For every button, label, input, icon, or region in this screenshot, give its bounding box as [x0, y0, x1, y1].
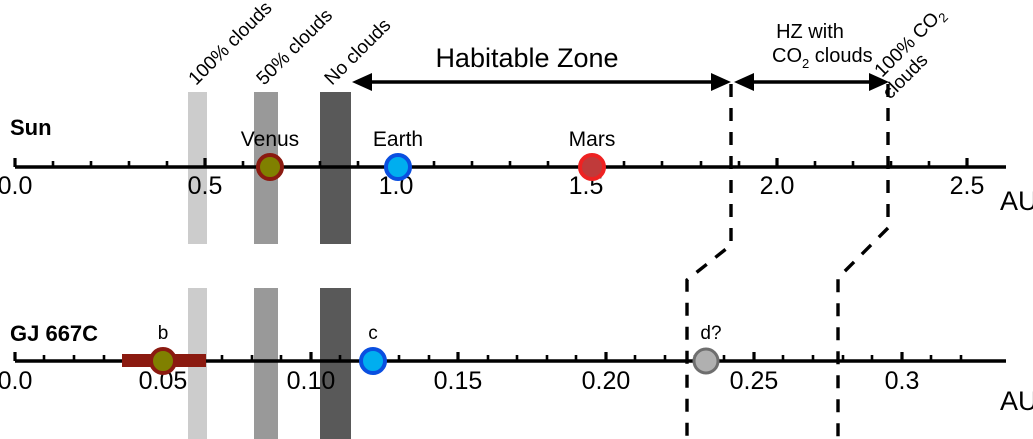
gj667c-cloud-bands	[188, 288, 351, 439]
planet-marker-b	[151, 349, 175, 373]
band-50pct-clouds-gj	[254, 288, 278, 439]
planet-marker-mars	[580, 155, 604, 179]
star-name-gj667c: GJ 667C	[10, 321, 98, 346]
sun-tick-label-5: 2.5	[950, 172, 985, 200]
hz-co2-clouds-annotation: HZ with CO2 clouds	[734, 21, 889, 91]
planet-label-earth: Earth	[373, 128, 423, 151]
planet-label-mars: Mars	[569, 128, 616, 151]
gj-tick-label-6: 0.3	[885, 367, 920, 395]
hz-co2-label-subscript: 2	[802, 56, 809, 71]
habitable-zone-diagram: 0.0 0.5 1.0 1.5 2.0 2.5 AU Sun 100% clou…	[0, 0, 1033, 439]
hz-co2-label-clouds: clouds	[809, 45, 872, 67]
figure-canvas: 0.0 0.5 1.0 1.5 2.0 2.5 AU Sun 100% clou…	[0, 0, 1033, 439]
planet-marker-c	[361, 349, 385, 373]
dashed-connector-outer	[838, 84, 888, 439]
hz-co2-arrow-head-left	[734, 73, 754, 91]
dashed-connectors	[687, 84, 888, 439]
sun-tick-label-4: 2.0	[760, 172, 795, 200]
planet-marker-venus	[258, 155, 282, 179]
dashed-connector-inner	[687, 84, 731, 439]
sun-band-labels: 100% clouds 50% clouds No clouds	[185, 0, 396, 90]
sun-axis-unit-label: AU	[1000, 186, 1033, 216]
gj667c-axis-unit-label: AU	[1000, 386, 1033, 416]
planet-marker-d	[694, 349, 718, 373]
planet-label-d: d?	[700, 323, 721, 344]
habitable-zone-label: Habitable Zone	[435, 43, 618, 73]
gj-tick-label-2: 0.10	[287, 367, 336, 395]
planet-label-b: b	[158, 323, 169, 344]
habitable-zone-arrow-head-right	[711, 73, 731, 91]
hz-co2-label-line1: HZ with	[776, 21, 844, 43]
planet-label-c: c	[368, 323, 378, 344]
sun-planet-markers: Venus Earth Mars	[241, 128, 616, 179]
gj-tick-label-4: 0.20	[582, 367, 631, 395]
band-no-clouds-gj	[320, 288, 351, 439]
co2-clouds-rotated-label: 100% CO2 clouds	[871, 3, 951, 103]
sun-tick-label-1: 0.5	[188, 172, 223, 200]
star-name-sun: Sun	[10, 115, 52, 140]
planet-label-venus: Venus	[241, 128, 299, 151]
gj667c-planet-markers: b c d?	[122, 323, 722, 373]
gj-tick-label-3: 0.15	[434, 367, 483, 395]
sun-axis: 0.0 0.5 1.0 1.5 2.0 2.5 AU	[0, 158, 1033, 216]
band-label-no-clouds-sun: No clouds	[321, 15, 396, 90]
hz-co2-label-line2: CO2 clouds	[772, 45, 873, 71]
sun-tick-label-0: 0.0	[0, 172, 32, 200]
gj-tick-label-0: 0.0	[0, 367, 32, 395]
planet-marker-earth	[386, 155, 410, 179]
gj-tick-label-5: 0.25	[730, 367, 779, 395]
habitable-zone-annotation: Habitable Zone	[352, 43, 731, 91]
habitable-zone-arrow-head-left	[352, 73, 372, 91]
hz-co2-label-co: CO	[772, 45, 802, 67]
